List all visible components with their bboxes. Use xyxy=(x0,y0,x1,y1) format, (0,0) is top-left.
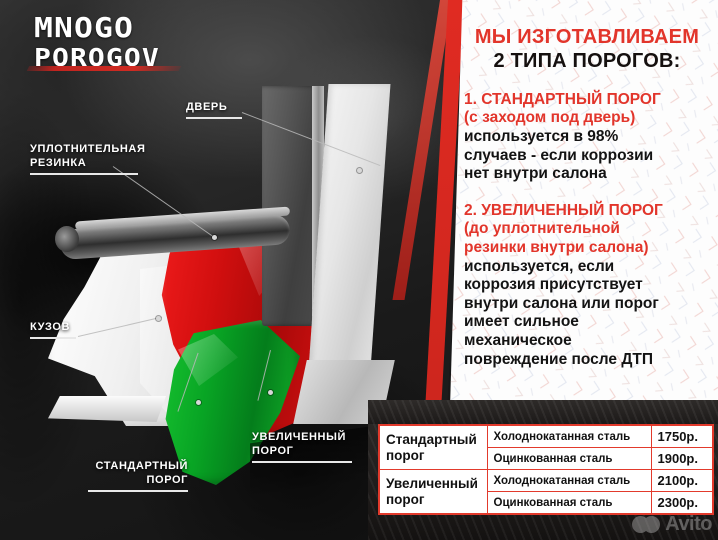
block2-subtitle-1: (до уплотнительной xyxy=(464,220,710,239)
block1-body-3: нет внутри салона xyxy=(464,165,710,184)
price-steel-label: Оцинкованная сталь xyxy=(487,448,651,470)
block1-subtitle: (с заходом под дверь) xyxy=(464,109,710,128)
price-steel-label: Оцинкованная сталь xyxy=(487,492,651,515)
leader-dot-increased xyxy=(268,390,273,395)
brand-logo-line1: MNOGO xyxy=(34,14,236,42)
brand-logo-accent xyxy=(27,66,182,71)
block2-body-2: коррозия присутствует xyxy=(464,276,710,295)
leader-dot-body xyxy=(156,316,161,321)
leader-dot-standard xyxy=(196,400,201,405)
price-steel-label: Холоднокатанная сталь xyxy=(487,425,651,448)
callout-door-rule xyxy=(186,117,242,119)
callout-increased-label-2: ПОРОГ xyxy=(252,445,293,457)
callout-seal-label-1: УПЛОТНИТЕЛЬНАЯ xyxy=(30,143,145,155)
price-value: 1750р. xyxy=(651,425,713,448)
car-body-lip xyxy=(48,396,166,422)
block2-body-4: имеет сильное xyxy=(464,313,710,332)
callout-standard-label-2: ПОРОГ xyxy=(147,474,188,486)
block2-body-1: используется, если xyxy=(464,258,710,277)
table-row: Увеличенный порог Холоднокатанная сталь … xyxy=(379,470,713,492)
info-panel-content: МЫ ИЗГОТАВЛИВАЕМ 2 ТИПА ПОРОГОВ: 1. СТАН… xyxy=(464,0,710,369)
block1-body-1: используется в 98% xyxy=(464,128,710,147)
block2-body-6: повреждение после ДТП xyxy=(464,351,710,370)
block2-title: 2. УВЕЛИЧЕННЫЙ ПОРОГ xyxy=(464,202,710,221)
callout-seal-label-2: РЕЗИНКА xyxy=(30,157,86,169)
block2-body-3: внутри салона или порог xyxy=(464,295,710,314)
price-type-standard: Стандартный порог xyxy=(379,425,487,470)
panel-headline: МЫ ИЗГОТАВЛИВАЕМ 2 ТИПА ПОРОГОВ: xyxy=(464,26,710,73)
table-row: Стандартный порог Холоднокатанная сталь … xyxy=(379,425,713,448)
callout-increased-label-1: УВЕЛИЧЕННЫЙ xyxy=(252,431,346,443)
callout-body-rule xyxy=(30,337,76,339)
banner-root: ДВЕРЬ УПЛОТНИТЕЛЬНАЯ РЕЗИНКА КУЗОВ СТАНД… xyxy=(0,0,718,540)
callout-standard-label-1: СТАНДАРТНЫЙ xyxy=(96,460,189,472)
price-value: 2300р. xyxy=(651,492,713,515)
block2-body-5: механическое xyxy=(464,332,710,351)
info-block-standard: 1. СТАНДАРТНЫЙ ПОРОГ (с заходом под двер… xyxy=(464,91,710,184)
callout-seal-rule xyxy=(30,173,138,175)
price-table: Стандартный порог Холоднокатанная сталь … xyxy=(378,424,714,515)
callout-standard-rule xyxy=(88,490,188,492)
price-steel-label: Холоднокатанная сталь xyxy=(487,470,651,492)
price-type-increased-line2: порог xyxy=(386,492,425,507)
price-value: 2100р. xyxy=(651,470,713,492)
block1-title: 1. СТАНДАРТНЫЙ ПОРОГ xyxy=(464,91,710,110)
price-type-standard-line1: Стандартный xyxy=(386,432,477,447)
callout-door-label: ДВЕРЬ xyxy=(186,101,227,113)
headline-line-2: 2 ТИПА ПОРОГОВ: xyxy=(464,50,710,72)
brand-logo: MNOGO POROGOV xyxy=(34,14,214,74)
callout-seal: УПЛОТНИТЕЛЬНАЯ РЕЗИНКА xyxy=(30,142,145,175)
callout-standard-sill: СТАНДАРТНЫЙ ПОРОГ xyxy=(88,459,188,492)
leader-dot-door xyxy=(357,168,362,173)
callout-increased-rule xyxy=(252,461,352,463)
leader-dot-seal xyxy=(212,235,217,240)
price-type-standard-line2: порог xyxy=(386,448,425,463)
price-type-increased: Увеличенный порог xyxy=(379,470,487,515)
callout-body: КУЗОВ xyxy=(30,320,76,339)
price-value: 1900р. xyxy=(651,448,713,470)
block1-body-2: случаев - если коррозии xyxy=(464,147,710,166)
callout-body-label: КУЗОВ xyxy=(30,321,70,333)
block2-subtitle-2: резинки внутри салона) xyxy=(464,239,710,258)
price-type-increased-line1: Увеличенный xyxy=(386,476,478,491)
callout-door: ДВЕРЬ xyxy=(186,100,242,119)
callout-increased-sill: УВЕЛИЧЕННЫЙ ПОРОГ xyxy=(252,430,352,463)
info-block-increased: 2. УВЕЛИЧЕННЫЙ ПОРОГ (до уплотнительной … xyxy=(464,202,710,369)
headline-line-1: МЫ ИЗГОТАВЛИВАЕМ xyxy=(464,26,710,48)
